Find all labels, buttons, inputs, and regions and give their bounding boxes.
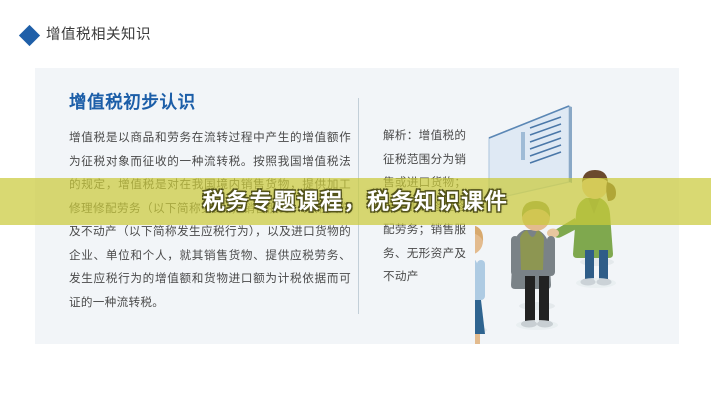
overlay-banner: 税务专题课程，税务知识课件 <box>0 178 711 225</box>
overlay-caption: 税务专题课程，税务知识课件 <box>203 191 509 213</box>
figure-attendee-left <box>475 225 487 344</box>
diamond-icon <box>19 24 40 45</box>
slide-heading: 增值税初步认识 <box>69 92 351 113</box>
page-title: 增值税相关知识 <box>46 28 151 43</box>
screenshot-stage: 增值税相关知识 增值税初步认识 增值税是以商品和劳务在流转过程中产生的增值额作为… <box>0 0 711 400</box>
page-header: 增值税相关知识 <box>22 24 151 46</box>
